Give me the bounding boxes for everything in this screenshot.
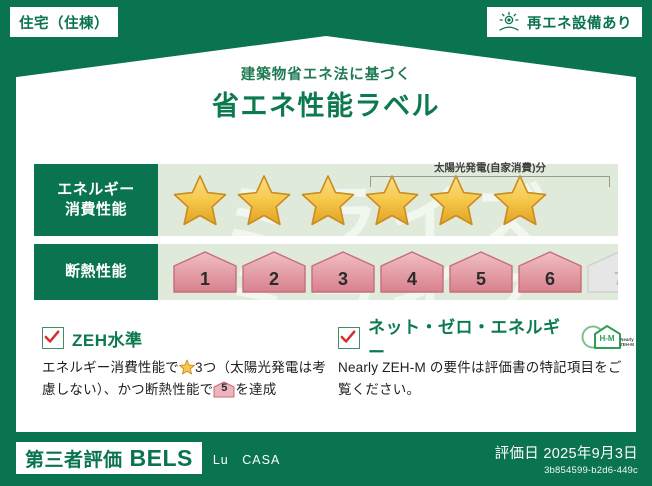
footer-left: 第三者評価 BELS Lu CASA xyxy=(16,442,280,474)
net-zero-statement-body: Nearly ZEH-M の要件は評価書の特記項目をご覧ください。 xyxy=(338,357,634,401)
insulation-level-number: 5 xyxy=(213,380,235,398)
insulation-level-number: 4 xyxy=(379,269,445,290)
insulation-level-number: 7 xyxy=(586,269,618,290)
insulation-performance-row: 断熱性能 ミライズ 1 2 3 4 5 6 7 xyxy=(34,244,618,300)
bels-certification-badge: 第三者評価 BELS xyxy=(16,442,202,474)
renewable-badge-label: 再エネ設備あり xyxy=(527,12,632,33)
renewable-equipment-badge: 再エネ設備あり xyxy=(487,7,642,37)
energy-performance-row: エネルギー 消費性能 ミライズ xyxy=(34,164,618,236)
net-zero-statement-title: ネット・ゼロ・エネルギー xyxy=(368,313,570,363)
energy-label-root: 住宅（住棟） 再エネ設備あり 建築物省エネ法に基づく 省エネ性能ラベル xyxy=(0,0,652,486)
insulation-level-number: 1 xyxy=(172,269,238,290)
star-icon xyxy=(300,173,356,227)
footer-right: 評価日 2025年9月3日 3b854599-b2d6-449c xyxy=(495,442,638,476)
evaluation-uid: 3b854599-b2d6-449c xyxy=(495,465,638,476)
owner-name: Lu CASA xyxy=(213,449,280,468)
house-icon: 6 xyxy=(517,250,583,294)
checkbox-checked-icon xyxy=(338,327,360,349)
energy-label-line2: 消費性能 xyxy=(65,200,127,220)
zeh-statement-title: ZEH水準 xyxy=(72,326,143,351)
zeh-body-part1: エネルギー消費性能で xyxy=(42,360,179,375)
zeh-body-part3: を達成 xyxy=(235,382,276,397)
house-icon: 1 xyxy=(172,250,238,294)
zeh-statement-body: エネルギー消費性能で3つ（太陽光発電は考慮しない）、かつ断熱性能で5を達成 xyxy=(42,357,338,401)
label-card: 建築物省エネ法に基づく 省エネ性能ラベル エネルギー 消費性能 ミライズ xyxy=(16,36,636,432)
evaluation-date: 評価日 2025年9月3日 xyxy=(495,442,638,463)
category-chip: 住宅（住棟） xyxy=(10,7,118,37)
insulation-level-number: 2 xyxy=(241,269,307,290)
bels-logo-text: BELS xyxy=(130,445,193,472)
house-icon-inactive: 7 xyxy=(586,250,618,294)
net-zero-statement-header: ネット・ゼロ・エネルギー H-M Nearly ZEH-M xyxy=(338,326,634,350)
house-icon-small: 5 xyxy=(213,381,235,398)
sun-icon xyxy=(497,11,521,33)
energy-performance-label: エネルギー 消費性能 xyxy=(34,164,158,236)
net-zero-energy-statement: ネット・ゼロ・エネルギー H-M Nearly ZEH-M Nearly ZEH… xyxy=(338,326,634,401)
insulation-performance-label: 断熱性能 xyxy=(34,244,158,300)
house-icon: 5 xyxy=(448,250,514,294)
label-main-title: 省エネ性能ラベル xyxy=(16,84,636,123)
svg-text:H-M: H-M xyxy=(599,334,614,343)
star-icon xyxy=(492,173,548,227)
third-party-evaluation-label: 第三者評価 xyxy=(25,445,123,472)
star-icon xyxy=(428,173,484,227)
insulation-level-number: 5 xyxy=(448,269,514,290)
checkbox-checked-icon xyxy=(42,327,64,349)
zeh-statement-header: ZEH水準 xyxy=(42,326,338,350)
svg-text:ZEH-M: ZEH-M xyxy=(620,342,634,347)
energy-label-line1: エネルギー xyxy=(57,180,135,200)
house-icon: 4 xyxy=(379,250,445,294)
insulation-level-number: 6 xyxy=(517,269,583,290)
zeh-m-house-logo: H-M Nearly ZEH-M xyxy=(580,323,634,353)
star-icon xyxy=(179,359,195,375)
house-icon: 2 xyxy=(241,250,307,294)
energy-performance-value: ミライズ xyxy=(158,164,618,236)
zeh-standard-statement: ZEH水準 エネルギー消費性能で3つ（太陽光発電は考慮しない）、かつ断熱性能で5… xyxy=(42,326,338,401)
insulation-level-number: 3 xyxy=(310,269,376,290)
star-icon xyxy=(364,173,420,227)
label-subtitle: 建築物省エネ法に基づく xyxy=(16,63,636,84)
star-rating xyxy=(158,173,548,227)
insulation-performance-value: ミライズ 1 2 3 4 5 6 7 xyxy=(158,244,618,300)
insulation-scale: 1 2 3 4 5 6 7 xyxy=(158,250,618,294)
house-icon: 3 xyxy=(310,250,376,294)
star-icon xyxy=(172,173,228,227)
star-icon xyxy=(236,173,292,227)
